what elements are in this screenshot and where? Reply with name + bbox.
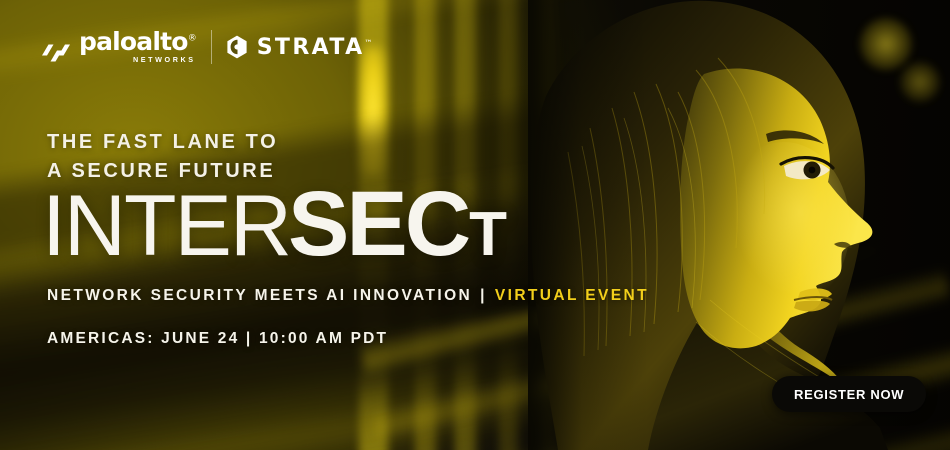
registered-trademark-icon: ®: [188, 34, 197, 44]
banner-content: paloalto® NETWORKS STRATA™ THE FAST LANE…: [0, 0, 950, 450]
paloalto-name: paloalto®: [79, 30, 197, 53]
strata-name-text: STRATA: [257, 35, 365, 60]
register-now-button[interactable]: REGISTER NOW: [772, 376, 926, 412]
headline-part-inter: INTER: [42, 183, 290, 269]
headline-part-t: T: [469, 204, 506, 266]
logo-lockup: paloalto® NETWORKS STRATA™: [42, 30, 373, 64]
paloalto-wordmark: paloalto® NETWORKS: [79, 30, 197, 64]
eyebrow-line-1: THE FAST LANE TO: [47, 128, 278, 157]
strata-hexagon-icon: [226, 35, 248, 59]
headline-part-sec: SEC: [288, 178, 468, 270]
trademark-icon: ™: [365, 38, 373, 47]
logo-divider-icon: [211, 30, 212, 64]
subhead-separator: |: [480, 287, 487, 304]
paloalto-subtitle: NETWORKS: [133, 55, 196, 64]
page-title: INTERSECT: [42, 178, 506, 270]
strata-logo[interactable]: STRATA™: [226, 35, 373, 60]
paloalto-name-text: paloalto: [79, 27, 188, 56]
paloalto-networks-mark-icon: [42, 42, 72, 64]
subhead-line: NETWORK SECURITY MEETS AI INNOVATION|VIR…: [47, 287, 649, 305]
event-dateline: AMERICAS: JUNE 24 | 10:00 AM PDT: [47, 330, 388, 348]
event-promo-banner: paloalto® NETWORKS STRATA™ THE FAST LANE…: [0, 0, 950, 450]
subhead-main-text: NETWORK SECURITY MEETS AI INNOVATION: [47, 287, 472, 304]
subhead-accent-text: VIRTUAL EVENT: [495, 287, 649, 304]
paloalto-networks-logo[interactable]: paloalto® NETWORKS: [42, 30, 197, 64]
strata-wordmark: STRATA™: [257, 35, 373, 60]
